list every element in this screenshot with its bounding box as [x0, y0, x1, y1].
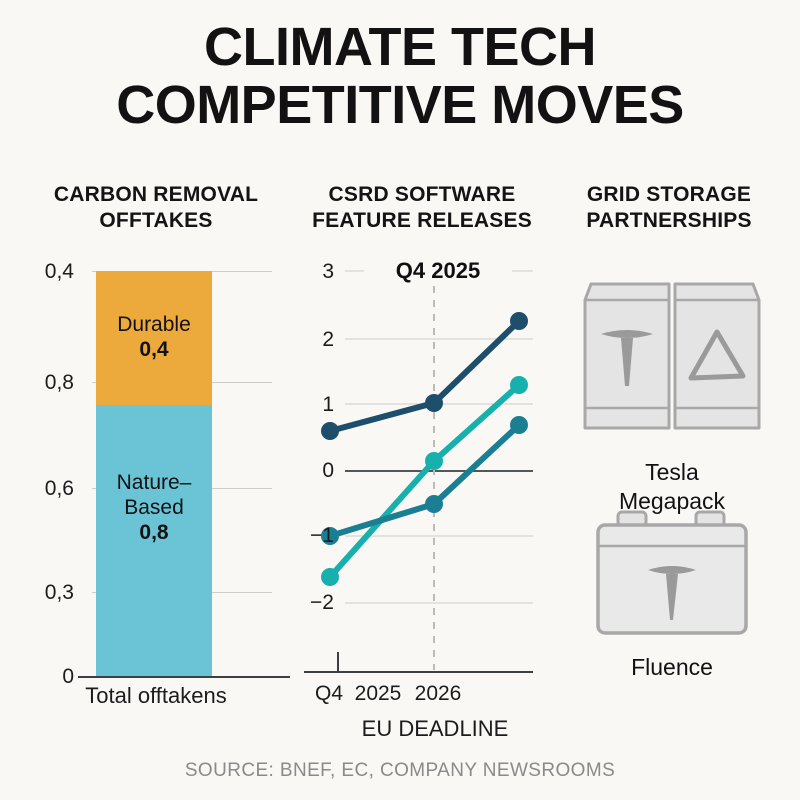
y-tick-label-3: 0,3	[12, 581, 74, 605]
durable-value: 0,4	[96, 337, 212, 362]
device-fluence-caption-line1: Fluence	[556, 653, 788, 682]
series-teal-bright-point-1	[425, 452, 443, 470]
x-axis-line	[78, 676, 290, 678]
csrd-feature-releases-line-chart: 3 2 1 0 −1 −2 Q4 2025 Q4 2025 2026 EU DE…	[290, 240, 560, 740]
x-tick-label-2026: 2026	[398, 682, 478, 706]
y-tick-label-2: 0,6	[12, 477, 74, 501]
device-megapack-caption-line1: Tesla	[556, 458, 788, 487]
grid-storage-panel: Tesla Megapack Fluence	[556, 240, 788, 720]
y-tick-label-3: 3	[294, 260, 334, 284]
device-megapack[interactable]: Tesla Megapack	[556, 270, 788, 516]
eu-deadline-annotation: Q4 2025	[364, 258, 512, 284]
y-tick-label-0: 0	[294, 459, 334, 483]
series-navy-point-2	[510, 312, 528, 330]
series-navy-point-1	[425, 394, 443, 412]
bar-segment-durable-label: Durable 0,4	[96, 312, 212, 362]
battery-box-icon	[592, 508, 752, 640]
title-line-1: CLIMATE TECH	[0, 18, 800, 76]
panel-header-grid-storage: GRID STORAGE PARTNERSHIPS	[556, 182, 782, 234]
series-navy-point-0	[321, 422, 339, 440]
panel-header-csrd-software: CSRD SOFTWARE FEATURE RELEASES	[296, 182, 548, 234]
line-x-axis-label: EU DEADLINE	[310, 716, 560, 742]
series-teal-bright-point-0	[321, 568, 339, 586]
panel-header-carbon-removal: CARBON REMOVAL OFFTAKES	[22, 182, 290, 234]
megapack-cabinet-icon	[577, 270, 767, 445]
series-teal-mid-line	[330, 425, 519, 536]
source-note: SOURCE: BNEF, EC, COMPANY NEWSROOMS	[0, 760, 800, 782]
bar-x-axis-label: Total offtakens	[56, 682, 256, 710]
series-teal-bright-point-2	[510, 376, 528, 394]
y-tick-label-2: 2	[294, 328, 334, 352]
y-tick-label-minus-1: −1	[286, 524, 334, 548]
series-teal-bright-line	[330, 385, 519, 577]
carbon-removal-bar-chart: 0,4 0,8 0,6 0,3 0 Durable 0,4 Nature–Bas…	[0, 240, 290, 740]
series-teal-mid-point-1	[425, 495, 443, 513]
series-navy-line	[330, 321, 519, 431]
megapack-right-cabinet	[675, 284, 759, 428]
bar-segment-nature-based-label: Nature–Based 0,8	[96, 470, 212, 545]
device-fluence[interactable]: Fluence	[556, 508, 788, 682]
title-line-2: COMPETITIVE MOVES	[0, 76, 800, 134]
nature-based-name: Nature–Based	[96, 470, 212, 520]
y-tick-label-1: 0,8	[12, 371, 74, 395]
y-tick-label-0: 0,4	[12, 260, 74, 284]
y-tick-label-1: 1	[294, 393, 334, 417]
nature-based-value: 0,8	[96, 520, 212, 545]
y-tick-label-minus-2: −2	[286, 591, 334, 615]
device-fluence-caption: Fluence	[556, 653, 788, 682]
page-title: CLIMATE TECH COMPETITIVE MOVES	[0, 18, 800, 134]
series-teal-mid-point-2	[510, 416, 528, 434]
durable-name: Durable	[96, 312, 212, 337]
